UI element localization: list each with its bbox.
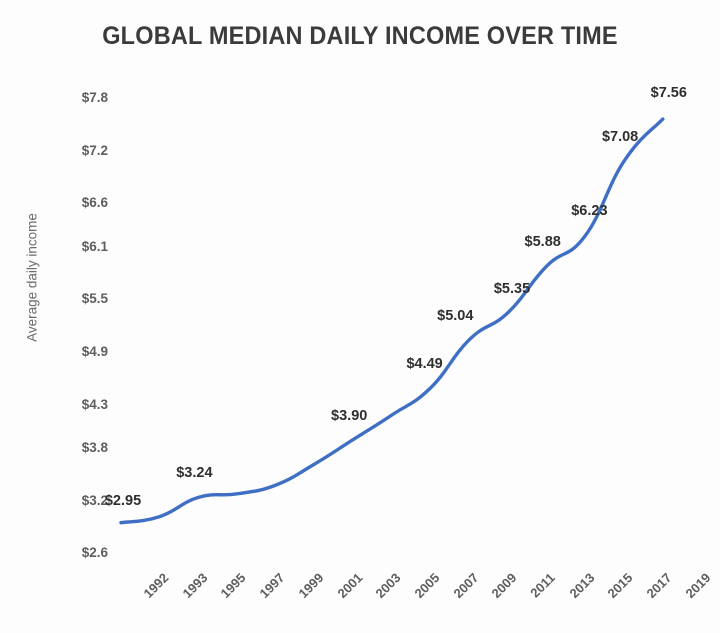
data-label-2003: $3.90 [331,408,367,424]
data-label-group: $2.95 $3.24 $3.90 $4.49 $5.04 $5.35 $5.8… [0,0,720,633]
data-label-2015: $6.23 [571,203,607,219]
data-label-2009: $5.04 [437,308,473,324]
data-label-2017: $7.08 [602,129,638,145]
data-label-2019: $7.56 [651,85,687,101]
data-label-1992: $2.95 [105,493,141,509]
data-label-2007: $4.49 [406,356,442,372]
data-label-2013: $5.88 [525,234,561,250]
data-label-1995: $3.24 [176,465,212,481]
data-label-2011: $5.35 [494,281,530,297]
chart-canvas: GLOBAL MEDIAN DAILY INCOME OVER TIME Ave… [0,0,720,633]
